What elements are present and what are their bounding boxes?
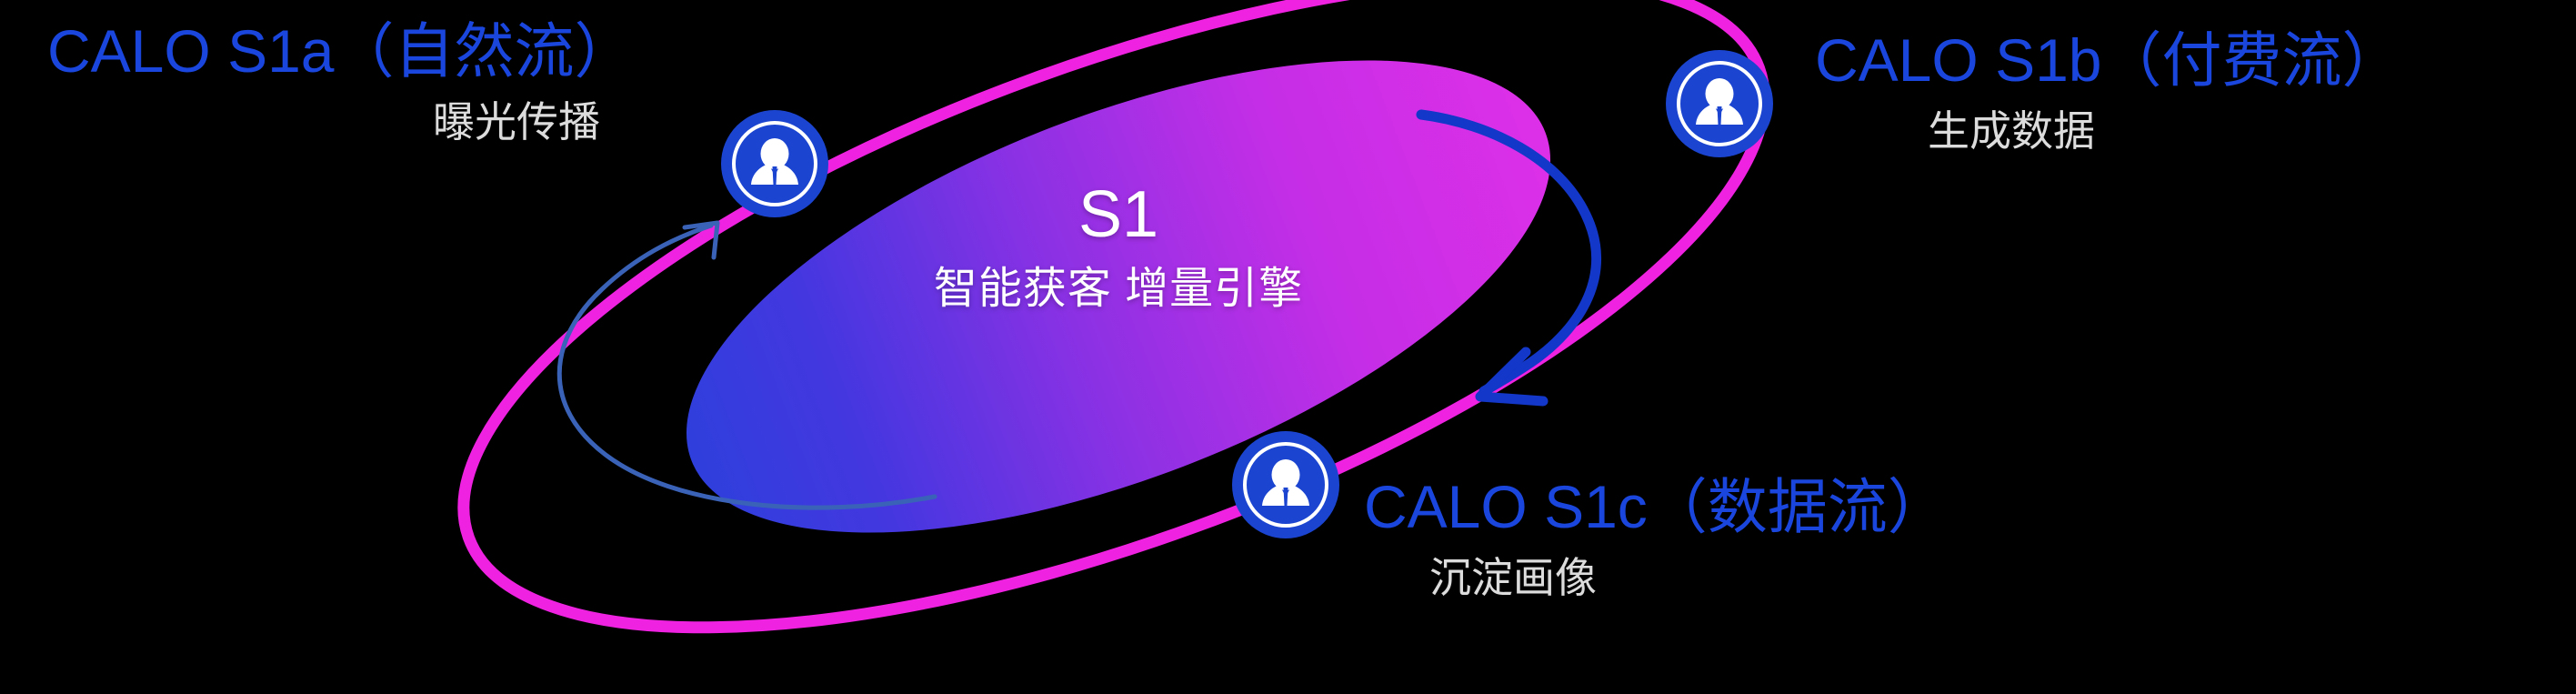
diagram-canvas: S1 智能获客 增量引擎 <box>0 0 2576 694</box>
label-s1b-title: CALO S1b（付费流） <box>1815 29 2402 92</box>
person-in-suit-icon <box>1232 431 1339 538</box>
label-s1b: CALO S1b（付费流） 生成数据 <box>1815 29 2402 155</box>
node-s1b[interactable] <box>1666 50 1773 157</box>
person-in-suit-icon <box>721 110 828 217</box>
label-s1a-subtitle: 曝光传播 <box>433 99 635 146</box>
label-s1c-title: CALO S1c（数据流） <box>1364 476 1948 538</box>
node-s1c[interactable] <box>1232 431 1339 538</box>
label-s1b-subtitle: 生成数据 <box>1928 108 2402 155</box>
label-s1c: CALO S1c（数据流） 沉淀画像 <box>1364 476 1948 601</box>
label-s1c-subtitle: 沉淀画像 <box>1429 555 1948 601</box>
person-in-suit-icon <box>1666 50 1773 157</box>
node-s1a[interactable] <box>721 110 828 217</box>
label-s1a-title: CALO S1a（自然流） <box>47 20 635 83</box>
label-s1a: CALO S1a（自然流） 曝光传播 <box>47 20 635 146</box>
